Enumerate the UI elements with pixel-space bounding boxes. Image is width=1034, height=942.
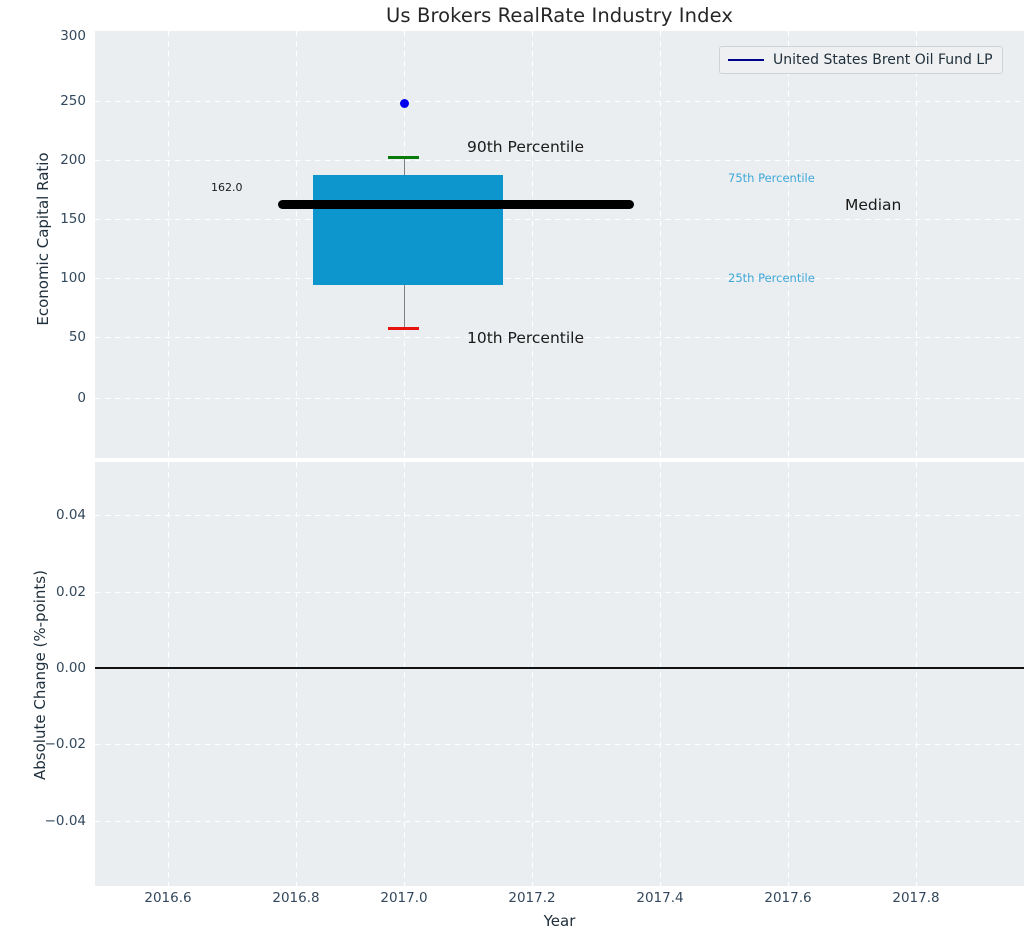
chart-figure: Us Brokers RealRate Industry Index 90th … <box>0 0 1034 942</box>
gridline-v <box>788 462 789 886</box>
gridline-v <box>168 462 169 886</box>
gridline-v <box>296 462 297 886</box>
panel-absolute-change <box>95 462 1024 886</box>
annotation-75th-percentile: 75th Percentile <box>728 171 815 185</box>
median-value-label: 162.0 <box>211 181 243 194</box>
gridline-v <box>660 462 661 886</box>
xtick-label: 2017.6 <box>764 890 811 906</box>
p90-cap <box>388 156 419 159</box>
annotation-median: Median <box>845 196 901 214</box>
x-axis-title: Year <box>95 912 1024 930</box>
xtick-label: 2017.0 <box>380 890 427 906</box>
gridline-v <box>532 31 533 458</box>
gridline-v <box>404 462 405 886</box>
y-axis-title-bottom: Absolute Change (%-points) <box>31 495 49 855</box>
annotation-10th-percentile: 10th Percentile <box>467 329 584 347</box>
gridline-h <box>95 821 1024 822</box>
gridline-h <box>95 744 1024 745</box>
gridline-h <box>95 160 1024 161</box>
ytick-label: 300 <box>0 28 86 44</box>
gridline-h <box>95 398 1024 399</box>
zero-reference-line <box>95 667 1024 669</box>
annotation-25th-percentile: 25th Percentile <box>728 271 815 285</box>
xtick-label: 2017.2 <box>508 890 555 906</box>
median-bar <box>278 200 634 209</box>
gridline-v <box>788 31 789 458</box>
y-axis-title-top: Economic Capital Ratio <box>34 84 52 394</box>
p10-cap <box>388 327 419 330</box>
xtick-label: 2017.8 <box>892 890 939 906</box>
company-data-point[interactable] <box>400 99 409 108</box>
gridline-v <box>532 462 533 886</box>
legend-line-swatch <box>728 59 764 61</box>
gridline-v <box>296 31 297 458</box>
legend[interactable]: United States Brent Oil Fund LP <box>719 46 1003 74</box>
xtick-label: 2017.4 <box>636 890 683 906</box>
gridline-h <box>95 278 1024 279</box>
panel-economic-capital-ratio: 90th Percentile 10th Percentile Median 7… <box>95 31 1024 458</box>
xtick-label: 2016.8 <box>272 890 319 906</box>
percentile-box <box>313 175 503 285</box>
gridline-h <box>95 101 1024 102</box>
gridline-h <box>95 515 1024 516</box>
gridline-v <box>168 31 169 458</box>
gridline-h <box>95 219 1024 220</box>
xtick-label: 2016.6 <box>144 890 191 906</box>
gridline-h <box>95 592 1024 593</box>
gridline-v <box>916 31 917 458</box>
legend-label: United States Brent Oil Fund LP <box>773 52 993 68</box>
chart-title: Us Brokers RealRate Industry Index <box>95 4 1024 27</box>
gridline-v <box>916 462 917 886</box>
annotation-90th-percentile: 90th Percentile <box>467 138 584 156</box>
gridline-v <box>660 31 661 458</box>
